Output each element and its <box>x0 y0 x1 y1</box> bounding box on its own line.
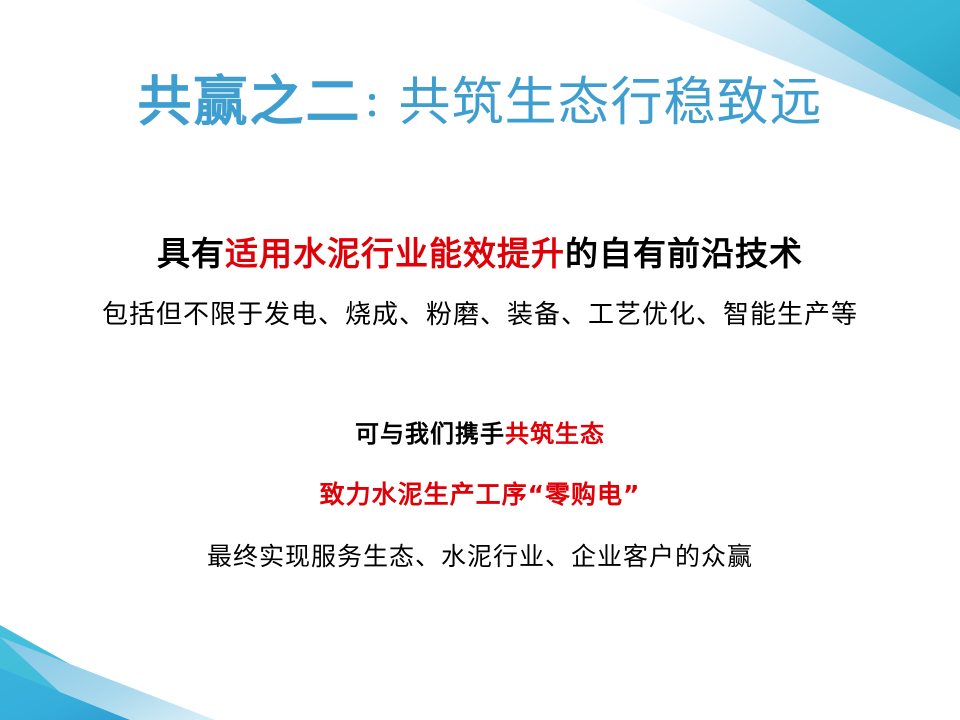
upper-lead-after: 的自有前沿技术 <box>565 234 803 273</box>
ribbon-band-blue <box>0 668 130 720</box>
diagonal-ribbon-bottom-left <box>0 590 430 720</box>
title-light-part: 共筑生态行稳致远 <box>398 73 822 133</box>
lower-text-block: 可与我们携手共筑生态 致力水泥生产工序“零购电” 最终实现服务生态、水泥行业、企… <box>0 417 960 574</box>
lower-zero-power-line: 致力水泥生产工序“零购电” <box>0 478 960 512</box>
ribbon-band-light <box>0 637 215 720</box>
upper-lead-highlight: 适用水泥行业能效提升 <box>225 234 565 273</box>
slide-title: 共赢之二：共筑生态行稳致远 <box>0 57 960 136</box>
upper-lead-line: 具有适用水泥行业能效提升的自有前沿技术 <box>0 232 960 276</box>
slide-canvas: 共赢之二：共筑生态行稳致远 具有适用水泥行业能效提升的自有前沿技术 包括但不限于… <box>0 0 960 720</box>
upper-text-block: 具有适用水泥行业能效提升的自有前沿技术 包括但不限于发电、烧成、粉磨、装备、工艺… <box>0 232 960 333</box>
lower-join-before: 可与我们携手 <box>355 420 505 448</box>
title-colon: ： <box>363 85 397 125</box>
lower-join-line: 可与我们携手共筑生态 <box>0 417 960 451</box>
upper-lead-before: 具有 <box>157 234 225 273</box>
lower-final-line: 最终实现服务生态、水泥行业、企业客户的众赢 <box>0 540 960 574</box>
ribbon-band-teal <box>0 625 170 720</box>
title-strong-part: 共赢之二 <box>137 70 361 133</box>
lower-join-highlight: 共筑生态 <box>505 420 605 448</box>
upper-sub-line: 包括但不限于发电、烧成、粉磨、装备、工艺优化、智能生产等 <box>0 297 960 333</box>
